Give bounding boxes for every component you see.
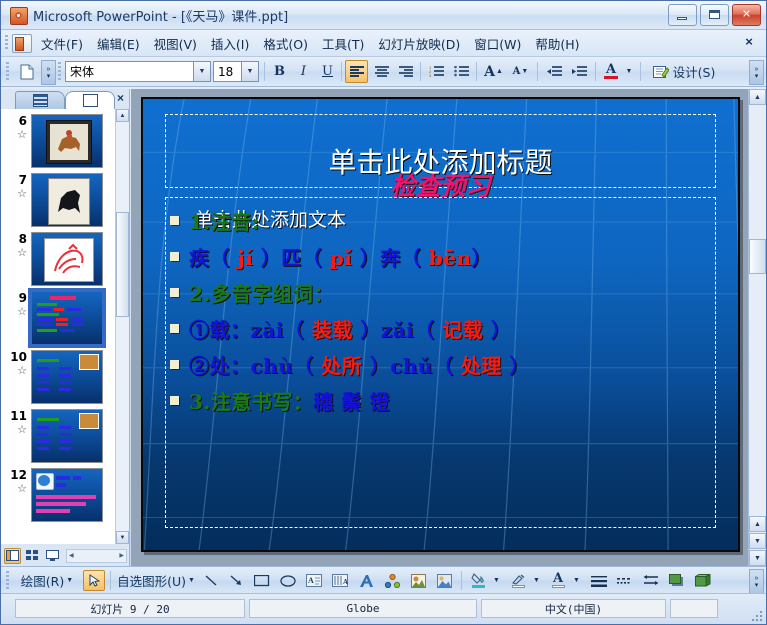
- thumbnail-meta: 6☆: [3, 114, 31, 140]
- text-run: 穗 鬃 镫: [313, 390, 389, 414]
- font-size-combo[interactable]: 18 ▼: [213, 61, 259, 82]
- 3d-style-icon[interactable]: [691, 570, 715, 591]
- oval-icon[interactable]: [276, 570, 300, 591]
- diagram-icon[interactable]: [380, 570, 404, 591]
- thumbnail-number: 12: [3, 468, 27, 482]
- slides-tab-icon: [83, 94, 98, 107]
- text-run: ）: [502, 354, 530, 378]
- text-run: ）: [483, 318, 511, 342]
- drawing-toolbar: 绘图(R) ▼ 自选图形(U) ▼ A A: [1, 566, 766, 594]
- align-center-icon[interactable]: [370, 60, 393, 83]
- text-run: ）匹（: [253, 246, 329, 270]
- next-slide-icon[interactable]: ▼: [749, 533, 766, 549]
- close-button[interactable]: ✕: [732, 4, 761, 26]
- align-left-icon[interactable]: [345, 60, 368, 83]
- thumbnail-item[interactable]: 12☆: [1, 463, 116, 522]
- thumbnail-item[interactable]: 9☆: [1, 286, 116, 345]
- autoshapes-menu-button[interactable]: 自选图形(U) ▼: [115, 570, 197, 591]
- text-run: ②处：chù（: [189, 354, 321, 378]
- chevron-down-icon[interactable]: ▼: [241, 62, 258, 81]
- slide-bullet-line[interactable]: 2.多音字组词：: [170, 274, 709, 310]
- scroll-thumb[interactable]: [749, 239, 766, 274]
- slide-surface[interactable]: 单击此处添加标题 检查预习 单击此处添加文本 1.注音:疾（ jí ）匹（ pǐ…: [141, 97, 740, 552]
- text-run: bēn: [429, 246, 472, 270]
- transition-star-icon[interactable]: ☆: [3, 188, 27, 199]
- thumbnail-item[interactable]: 7☆: [1, 168, 116, 227]
- scroll-up-icon[interactable]: ▲: [749, 89, 766, 105]
- powerpoint-icon: [10, 7, 28, 25]
- svg-text:A: A: [343, 578, 348, 586]
- slide-bullet-line[interactable]: 1.注音:: [170, 202, 709, 238]
- slide-bullet-text: ①载：zài（ 装载 ）zǎi（ 记载 ）: [189, 314, 511, 343]
- transition-star-icon[interactable]: ☆: [3, 365, 27, 376]
- underline-button[interactable]: U: [316, 60, 339, 83]
- arrow-style-icon[interactable]: [639, 570, 663, 591]
- slide-bullet-line[interactable]: ②处：chù（ 处所 ）chǔ（ 处理 ）: [170, 346, 709, 382]
- text-run: 处所: [321, 354, 362, 378]
- text-run: ①载：zài（: [189, 318, 312, 342]
- menu-item-5[interactable]: 工具(T): [315, 31, 371, 56]
- window-title: Microsoft PowerPoint - [《天马》课件.ppt]: [33, 6, 288, 25]
- scroll-down-icon[interactable]: ▼: [749, 550, 766, 566]
- arrow-select-icon[interactable]: [83, 570, 105, 591]
- text-run: 处理: [461, 354, 502, 378]
- autoshapes-label: 自选图形(U): [117, 571, 186, 590]
- thumbnail-number: 10: [3, 350, 27, 364]
- text-run: 2.多音字组词：: [189, 282, 334, 306]
- thumbnail-preview[interactable]: [31, 291, 103, 345]
- thumbnail-number: 9: [3, 291, 27, 305]
- thumbnail-number: 7: [3, 173, 27, 187]
- thumbnail-item[interactable]: 10☆: [1, 345, 116, 404]
- thumbnail-meta: 12☆: [3, 468, 31, 494]
- previous-slide-icon[interactable]: ▲: [749, 516, 766, 532]
- text-run: ）chǔ（: [362, 354, 461, 378]
- menu-item-2[interactable]: 视图(V): [147, 31, 204, 56]
- slide-bullet-text: 3.注意书写：穗 鬃 镫: [189, 386, 390, 415]
- text-run: 记载: [442, 318, 483, 342]
- font-name-combo[interactable]: 宋体 ▼: [65, 61, 211, 82]
- transition-star-icon[interactable]: ☆: [3, 247, 27, 258]
- scroll-up-icon[interactable]: ▲: [116, 109, 129, 122]
- chevron-down-icon: ▼: [188, 577, 195, 584]
- font-size-value: 18: [214, 65, 233, 79]
- transition-star-icon[interactable]: ☆: [3, 483, 27, 494]
- menu-item-0[interactable]: 文件(F): [34, 31, 90, 56]
- scroll-thumb[interactable]: [116, 212, 129, 317]
- line-icon[interactable]: [200, 570, 222, 591]
- font-name-value: 宋体: [66, 63, 94, 80]
- align-right-icon[interactable]: [394, 60, 417, 83]
- normal-view-icon[interactable]: [4, 548, 21, 564]
- shrink-font-icon[interactable]: A▼: [508, 60, 533, 83]
- thumbnail-preview[interactable]: [31, 409, 103, 463]
- bullet-square-icon: [170, 288, 179, 297]
- bullet-square-icon: [170, 324, 179, 333]
- insert-picture-icon[interactable]: [432, 570, 456, 591]
- menu-grip[interactable]: [5, 35, 8, 51]
- rectangle-icon[interactable]: [250, 570, 274, 591]
- drawbar-grip[interactable]: [6, 571, 9, 590]
- slide-bullet-line[interactable]: ①载：zài（ 装载 ）zǎi（ 记载 ）: [170, 310, 709, 346]
- text-run: 3.注意书写：: [189, 390, 313, 414]
- pane-tabs: ×: [1, 89, 129, 109]
- italic-button[interactable]: I: [292, 60, 315, 83]
- minimize-button[interactable]: [668, 4, 697, 26]
- status-bar: 幻灯片 9 / 20 Globe 中文(中国): [1, 593, 766, 624]
- menu-item-1[interactable]: 编辑(E): [90, 31, 147, 56]
- document-close-button[interactable]: ×: [741, 34, 757, 50]
- menu-bar: 文件(F)编辑(E)视图(V)插入(I)格式(O)工具(T)幻灯片放映(D)窗口…: [1, 30, 766, 57]
- slide-edit-area: 单击此处添加标题 检查预习 单击此处添加文本 1.注音:疾（ jí ）匹（ pǐ…: [131, 89, 766, 566]
- pane-close-button[interactable]: ×: [117, 91, 124, 105]
- chevron-down-icon: ▼: [66, 577, 73, 584]
- draw-label: 绘图(R): [21, 571, 64, 590]
- font-color-icon[interactable]: A: [600, 60, 622, 83]
- bullet-square-icon: [170, 252, 179, 261]
- thumbnail-preview[interactable]: [31, 114, 103, 168]
- title-bar: Microsoft PowerPoint - [《天马》课件.ppt] ✕: [1, 1, 766, 30]
- formatting-toolbar: »▾ 宋体 ▼ 18 ▼ B I U 123 A: [1, 57, 766, 87]
- text-run: ）zǎi（: [353, 318, 442, 342]
- slide-bullet-text: 1.注音:: [189, 206, 260, 235]
- thumbnail-list[interactable]: 6☆7☆8☆9☆10☆11☆12☆: [1, 109, 116, 544]
- clip-art-icon[interactable]: [406, 570, 430, 591]
- numbered-list-icon[interactable]: 123: [425, 60, 448, 83]
- drawbar-overflow[interactable]: »▾: [749, 569, 764, 594]
- draw-menu-button[interactable]: 绘图(R) ▼: [15, 570, 79, 591]
- thumbnail-item[interactable]: 11☆: [1, 404, 116, 463]
- bullet-square-icon: [170, 396, 179, 405]
- grow-font-icon[interactable]: A▲: [481, 60, 506, 83]
- body-placeholder[interactable]: 单击此处添加文本 1.注音:疾（ jí ）匹（ pǐ ）奔（ bēn）2.多音字…: [165, 197, 716, 528]
- decrease-indent-icon[interactable]: [542, 60, 566, 83]
- bold-button[interactable]: B: [268, 60, 291, 83]
- spell-check-status: [670, 599, 718, 618]
- font-color-icon[interactable]: A: [546, 570, 570, 591]
- design-button[interactable]: 设计(S): [645, 60, 723, 83]
- title-placeholder[interactable]: 单击此处添加标题 检查预习: [165, 114, 716, 188]
- bullet-square-icon: [170, 216, 179, 225]
- chevron-down-icon[interactable]: ▼: [193, 62, 210, 81]
- vertical-text-box-icon[interactable]: A: [328, 570, 352, 591]
- design-template-status[interactable]: Globe: [249, 599, 477, 618]
- bulleted-list-icon[interactable]: [450, 60, 473, 83]
- text-run: 装载: [312, 318, 353, 342]
- toolbar-grip-1[interactable]: [6, 62, 9, 81]
- thumbnail-number: 8: [3, 232, 27, 246]
- thumbnail-item[interactable]: 8☆: [1, 227, 116, 286]
- language-status[interactable]: 中文(中国): [481, 599, 666, 618]
- font-color-dropdown-icon[interactable]: ▼: [570, 570, 583, 591]
- slide-bullet-text: 疾（ jí ）匹（ pǐ ）奔（ bēn）: [189, 242, 492, 271]
- line-style-icon[interactable]: [587, 570, 611, 591]
- scroll-down-icon[interactable]: ▼: [116, 531, 129, 544]
- thumbnail-meta: 10☆: [3, 350, 31, 376]
- thumbnail-meta: 7☆: [3, 173, 31, 199]
- view-buttons: ◀▶: [1, 545, 129, 566]
- thumbnail-number: 6: [3, 114, 27, 128]
- slide-counter: 幻灯片 9 / 20: [15, 599, 245, 618]
- menu-item-6[interactable]: 幻灯片放映(D): [371, 31, 467, 56]
- body-text-lines[interactable]: 1.注音:疾（ jí ）匹（ pǐ ）奔（ bēn）2.多音字组词：①载：zài…: [170, 202, 709, 418]
- menu-item-4[interactable]: 格式(O): [256, 31, 315, 56]
- outline-tab-icon: [33, 94, 48, 107]
- svg-text:A: A: [308, 576, 314, 585]
- transition-star-icon[interactable]: ☆: [3, 424, 27, 435]
- pane-scrollbar[interactable]: ▲ ▼: [115, 109, 129, 544]
- slide-show-icon[interactable]: [44, 548, 61, 564]
- thumbnail-preview[interactable]: [31, 173, 103, 227]
- thumbnail-preview[interactable]: [31, 232, 103, 286]
- slide-bullet-text: ②处：chù（ 处所 ）chǔ（ 处理 ）: [189, 350, 530, 379]
- toolbar-grip-2[interactable]: [58, 62, 61, 81]
- document-icon: [12, 34, 32, 53]
- slide-vertical-scrollbar[interactable]: ▲ ▲ ▼ ▼: [748, 89, 766, 566]
- toolbar-overflow-2[interactable]: »▾: [749, 60, 764, 85]
- window-controls: ✕: [668, 4, 761, 26]
- toolbar-overflow-1[interactable]: »▾: [41, 60, 56, 85]
- design-label: 设计(S): [673, 62, 716, 81]
- increase-indent-icon[interactable]: [567, 60, 591, 83]
- slide-bullet-line[interactable]: 疾（ jí ）匹（ pǐ ）奔（ bēn）: [170, 238, 709, 274]
- slide-bullet-line[interactable]: 3.注意书写：穗 鬃 镫: [170, 382, 709, 418]
- text-run: ）: [472, 246, 493, 270]
- slides-tab[interactable]: [65, 91, 115, 109]
- powerpoint-window: Microsoft PowerPoint - [《天马》课件.ppt] ✕ 文件…: [0, 0, 767, 625]
- font-color-dropdown-icon[interactable]: ▼: [622, 60, 636, 83]
- thumbnail-preview[interactable]: [31, 350, 103, 404]
- menu-item-3[interactable]: 插入(I): [204, 31, 256, 56]
- text-box-icon[interactable]: A: [302, 570, 326, 591]
- main-area: × 6☆7☆8☆9☆10☆11☆12☆ ▲ ▼ ◀▶: [1, 89, 766, 566]
- slides-pane: × 6☆7☆8☆9☆10☆11☆12☆ ▲ ▼ ◀▶: [1, 89, 130, 566]
- resize-grip-icon[interactable]: [750, 609, 764, 623]
- text-run: pǐ: [330, 246, 353, 270]
- thumbnail-meta: 8☆: [3, 232, 31, 258]
- outline-tab[interactable]: [15, 91, 65, 109]
- thumbnail-meta: 11☆: [3, 409, 31, 435]
- text-run: jí: [237, 246, 253, 270]
- menu-items: 文件(F)编辑(E)视图(V)插入(I)格式(O)工具(T)幻灯片放映(D)窗口…: [34, 30, 587, 56]
- dash-style-icon[interactable]: [613, 570, 637, 591]
- menu-item-7[interactable]: 窗口(W): [467, 31, 528, 56]
- slide-canvas[interactable]: 单击此处添加标题 检查预习 单击此处添加文本 1.注音:疾（ jí ）匹（ pǐ…: [141, 97, 740, 552]
- thumbnail-meta: 9☆: [3, 291, 31, 317]
- bullet-square-icon: [170, 360, 179, 369]
- thumbnail-preview[interactable]: [31, 468, 103, 522]
- text-run: 1.注音:: [189, 210, 260, 234]
- line-color-icon[interactable]: [506, 570, 530, 591]
- arrow-icon[interactable]: [225, 570, 247, 591]
- menu-item-8[interactable]: 帮助(H): [528, 31, 586, 56]
- fill-color-icon[interactable]: [466, 570, 490, 591]
- shadow-style-icon[interactable]: [665, 570, 689, 591]
- transition-star-icon[interactable]: ☆: [3, 129, 27, 140]
- line-color-dropdown-icon[interactable]: ▼: [530, 570, 543, 591]
- pane-horizontal-scrollbar[interactable]: ◀▶: [66, 549, 127, 563]
- thumbnail-number: 11: [3, 409, 27, 423]
- new-document-icon[interactable]: [15, 60, 39, 83]
- svg-text:3: 3: [429, 73, 432, 77]
- text-run: 疾（: [189, 246, 237, 270]
- wordart-icon[interactable]: [354, 570, 378, 591]
- fill-color-dropdown-icon[interactable]: ▼: [490, 570, 503, 591]
- thumbnail-item[interactable]: 6☆: [1, 109, 116, 168]
- restore-button[interactable]: [700, 4, 729, 26]
- slide-sorter-icon[interactable]: [24, 548, 41, 564]
- slide-bullet-text: 2.多音字组词：: [189, 278, 334, 307]
- transition-star-icon[interactable]: ☆: [3, 306, 27, 317]
- text-run: ）奔（: [352, 246, 428, 270]
